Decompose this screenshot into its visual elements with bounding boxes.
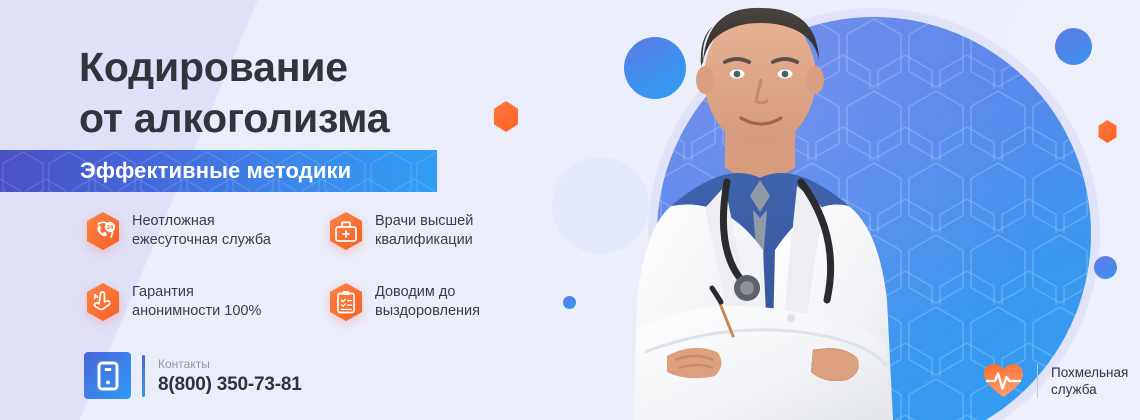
feature-label: Гарантия анонимности 100% [132,282,261,321]
feature-label-line-2: ежесуточная служба [132,232,271,248]
feature-label-line-2: выздоровления [375,303,480,319]
feature-item: 24 Неотложная ежесуточная служба [85,211,328,282]
feature-label-line-2: анонимности 100% [132,303,261,319]
feature-item: Врачи высшей квалификации [328,211,545,282]
logo-text-line-1: Похмельная [1051,365,1128,380]
feature-item: Гарантия анонимности 100% [85,282,328,353]
svg-text:24: 24 [107,225,114,231]
decorative-blue-circle-right [1094,256,1117,279]
brand-logo[interactable]: Похмельная служба [983,362,1128,399]
logo-divider [1037,364,1038,398]
hand-privacy-icon [85,282,121,322]
headline-line-2: от алкоголизма [79,93,559,144]
contacts-block[interactable]: Контакты 8(800) 350-73-81 [84,352,302,399]
features-list: 24 Неотложная ежесуточная служба Врачи в… [85,211,545,353]
feature-label-line-1: Гарантия [132,284,194,300]
mobile-phone-icon [84,352,131,399]
doctor-photo [575,0,945,420]
page-title: Кодирование от алкоголизма [79,42,559,144]
headline-line-1: Кодирование [79,44,348,90]
feature-label-line-1: Врачи высшей [375,213,473,229]
phone-24-icon: 24 [85,211,121,251]
logo-text: Похмельная служба [1051,364,1128,398]
status-badge: Эффективные методики [0,150,437,192]
medical-bag-icon [328,211,364,251]
feature-item: Доводим до выздоровления [328,282,545,353]
clipboard-checklist-icon [328,282,364,322]
logo-text-line-2: служба [1051,382,1097,397]
feature-label: Врачи высшей квалификации [375,211,473,250]
contacts-phone-number[interactable]: 8(800) 350-73-81 [158,373,302,396]
decorative-blue-circle-top-right [1055,28,1092,65]
heart-pulse-icon [983,362,1024,399]
feature-label-line-2: квалификации [375,232,473,248]
contacts-caption: Контакты [158,357,210,371]
doctor-illustration-icon [575,0,945,420]
contacts-divider [142,355,145,397]
hero-banner: Кодирование от алкоголизма Эффективные м… [0,0,1140,420]
feature-label: Неотложная ежесуточная служба [132,211,271,250]
badge-label: Эффективные методики [80,150,351,192]
feature-label: Доводим до выздоровления [375,282,480,321]
feature-label-line-1: Неотложная [132,213,215,229]
feature-label-line-1: Доводим до [375,284,455,300]
